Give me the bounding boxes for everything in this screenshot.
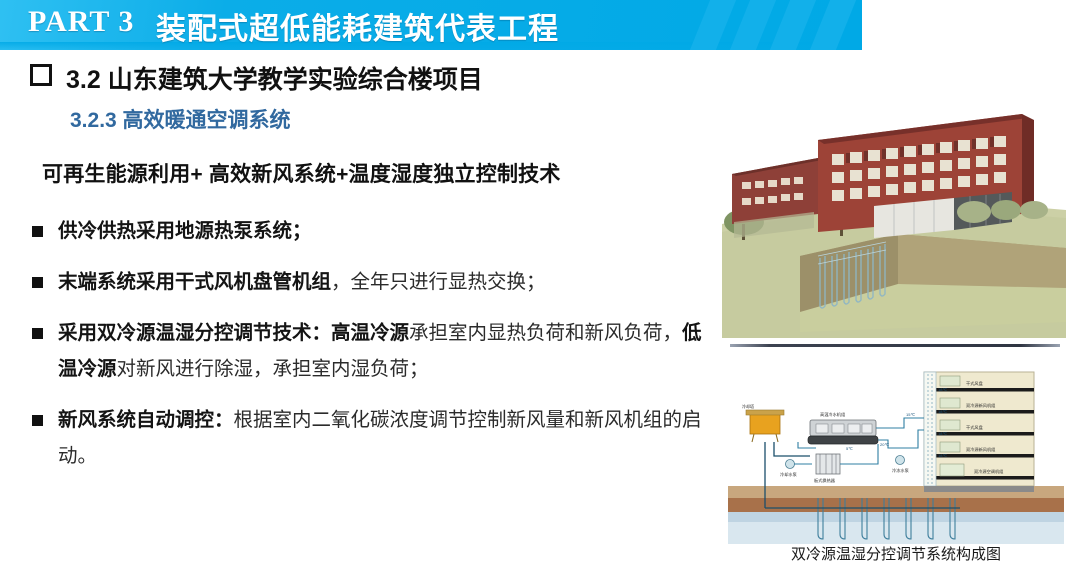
subsection-title: 3.2.3 高效暖通空调系统 [70,104,291,134]
filled-square-marker-icon [32,328,43,339]
filled-square-marker-icon [32,277,43,288]
svg-text:18℃: 18℃ [938,431,947,436]
svg-text:干式风盘: 干式风盘 [966,380,983,387]
bullet-item: 新风系统自动调控：根据室内二氧化碳浓度调节控制新风量和新风机组的启动。 [30,402,702,474]
svg-text:冷却塔: 冷却塔 [742,403,754,409]
svg-text:板式换热器: 板式换热器 [814,477,836,484]
svg-text:双冷源新风机组: 双冷源新风机组 [966,402,995,409]
bullet-item: 采用双冷源温湿分控调节技术：高温冷源承担室内显热负荷和新风负荷，低温冷源对新风进… [30,315,702,387]
filled-square-marker-icon [32,226,43,237]
svg-text:冷冻水泵: 冷冻水泵 [892,467,909,474]
svg-text:高温冷水机组: 高温冷水机组 [820,411,845,418]
filled-square-marker-icon [32,415,43,426]
bullet-text-run: 采用双冷源温湿分控调节技术： [58,322,331,344]
slide-body: 3.2 山东建筑大学教学实验综合楼项目 3.2.3 高效暖通空调系统 可再生能源… [0,50,712,576]
system-schematic-image: 干式风盘 双冷源新风机组 干式风盘 双冷源新风机组 双冷源空调机组 18℃ 18… [728,358,1064,544]
header-title: 装配式超低能耗建筑代表工程 [156,4,559,48]
stripe-2 [727,0,778,50]
section-title-row: 3.2 山东建筑大学教学实验综合楼项目 [30,60,483,96]
svg-text:5℃: 5℃ [846,446,853,451]
figure-caption: 双冷源温湿分控调节系统构成图 [712,543,1080,564]
svg-text:18℃: 18℃ [938,409,947,414]
figure-column: 干式风盘 双冷源新风机组 干式风盘 双冷源新风机组 双冷源空调机组 18℃ 18… [712,50,1080,576]
svg-text:冷却水泵: 冷却水泵 [780,471,797,478]
svg-text:15℃: 15℃ [906,412,915,417]
figure-divider [730,344,1060,347]
bullet-text-run: 新风系统自动调控： [58,409,234,431]
open-square-marker-icon [30,64,52,86]
slide-header: PART 3 装配式超低能耗建筑代表工程 [0,0,1080,50]
header-stripes-decoration [700,0,880,50]
tagline-text: 可再生能源利用+ 高效新风系统+温度湿度独立控制技术 [42,158,561,188]
bullet-item: 供冷供热采用地源热泵系统； [30,213,702,249]
svg-text:20℃: 20℃ [880,442,889,447]
bullet-text-run: 对新风进行除湿，承担室内湿负荷； [117,358,429,380]
bullet-item: 末端系统采用干式风机盘管机组，全年只进行显热交换； [30,264,702,300]
building-render-image [722,106,1066,338]
bullet-list: 供冷供热采用地源热泵系统；末端系统采用干式风机盘管机组，全年只进行显热交换；采用… [30,213,702,489]
svg-text:干式风盘: 干式风盘 [966,424,983,431]
bullet-text-run: 末端系统采用干式风机盘管机组 [58,271,331,293]
svg-text:18℃: 18℃ [938,453,947,458]
stripe-3 [767,0,818,50]
stripe-4 [807,0,858,50]
svg-text:18℃: 18℃ [938,387,947,392]
bullet-text-run: 高温冷源 [331,322,409,344]
section-title-text: 3.2 山东建筑大学教学实验综合楼项目 [66,66,483,94]
header-part-label: PART 3 [28,5,134,39]
svg-text:双冷源新风机组: 双冷源新风机组 [966,446,995,453]
svg-text:双冷源空调机组: 双冷源空调机组 [974,468,1003,475]
bullet-text-run: 承担室内显热负荷和新风负荷， [409,322,682,344]
bullet-text-run: ，全年只进行显热交换； [331,271,546,293]
bullet-text-run: 供冷供热采用地源热泵系统； [58,220,312,242]
